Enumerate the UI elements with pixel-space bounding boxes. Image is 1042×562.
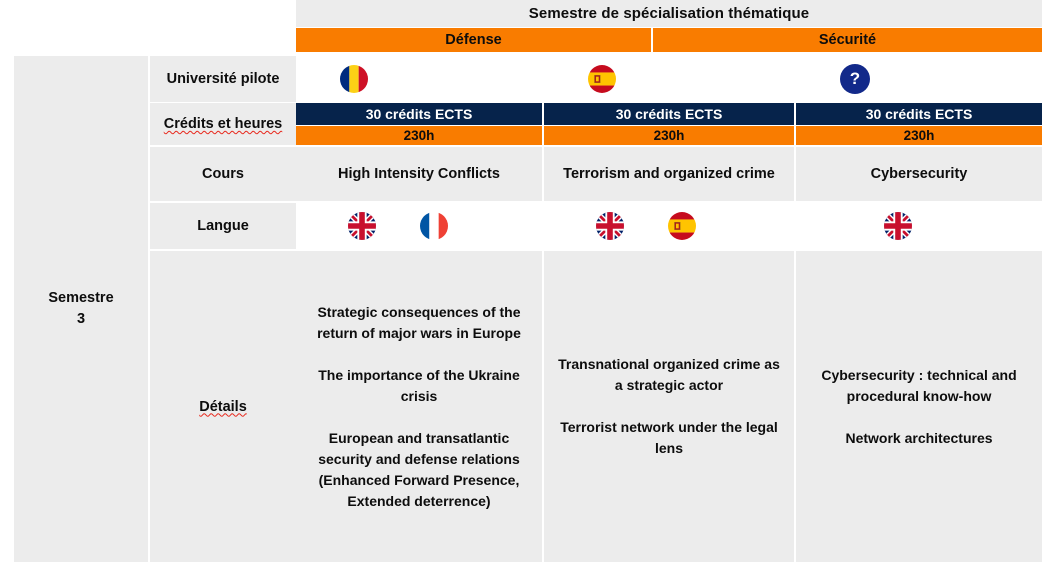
question-mark-icon: ? [840,64,870,94]
row-label-credits-text: Crédits et heures [164,116,282,132]
credits-value-col1: 30 crédits ECTS [296,103,542,125]
languages-cell-col2 [544,203,794,249]
uk-flag-icon [884,212,912,240]
flag-group [796,212,1042,240]
detail-paragraph: Transnational organized crime as a strat… [556,354,782,396]
france-flag-icon [420,212,448,240]
course-name-col1: High Intensity Conflicts [296,147,542,201]
pilot-university-cell-col1 [296,56,542,102]
detail-paragraph: Terrorist network under the legal lens [556,417,782,459]
row-label-universite-pilote: Université pilote [150,56,296,102]
flag-group [296,212,542,240]
credits-value-col3: 30 crédits ECTS [796,103,1042,125]
pilot-university-cell-col2 [544,56,794,102]
semester-span-label: Semestre 3 [14,56,148,562]
flag-group [296,65,542,93]
course-name-col3: Cybersecurity [796,147,1042,201]
flag-group [544,65,794,93]
detail-paragraph: The importance of the Ukraine crisis [308,365,530,407]
languages-cell-col1 [296,203,542,249]
hours-value-col2: 230h [544,126,794,145]
languages-cell-col3 [796,203,1042,249]
detail-paragraph: European and transatlantic security and … [308,428,530,512]
uk-flag-icon [348,212,376,240]
semester-word: Semestre [48,288,113,309]
flag-group [544,212,794,240]
semester-specialization-table: Semestre de spécialisation thématique Dé… [0,0,1042,562]
uk-flag-icon [596,212,624,240]
header-group-title: Semestre de spécialisation thématique [296,0,1042,27]
row-label-langue: Langue [150,203,296,249]
detail-paragraph: Network architectures [808,428,1030,449]
details-cell-col2: Transnational organized crime as a strat… [544,251,794,562]
credits-value-col2: 30 crédits ECTS [544,103,794,125]
header-track-securite: Sécurité [653,28,1042,52]
row-label-cours: Cours [150,147,296,201]
details-cell-col1: Strategic consequences of the return of … [296,251,542,562]
row-label-details-text: Détails [199,399,247,415]
detail-paragraph: Strategic consequences of the return of … [308,302,530,344]
flag-group: ? [796,64,1042,94]
hours-value-col3: 230h [796,126,1042,145]
row-label-credits-et-heures: Crédits et heures [150,103,296,145]
romania-flag-icon [340,65,368,93]
details-cell-col3: Cybersecurity : technical and procedural… [796,251,1042,562]
row-label-details: Détails [150,251,296,562]
header-track-defense: Défense [296,28,651,52]
spain-flag-icon [668,212,696,240]
hours-value-col1: 230h [296,126,542,145]
spain-flag-icon [588,65,616,93]
course-name-col2: Terrorism and organized crime [544,147,794,201]
pilot-university-cell-col3: ? [796,56,1042,102]
semester-number: 3 [77,309,85,330]
detail-paragraph: Cybersecurity : technical and procedural… [808,365,1030,407]
